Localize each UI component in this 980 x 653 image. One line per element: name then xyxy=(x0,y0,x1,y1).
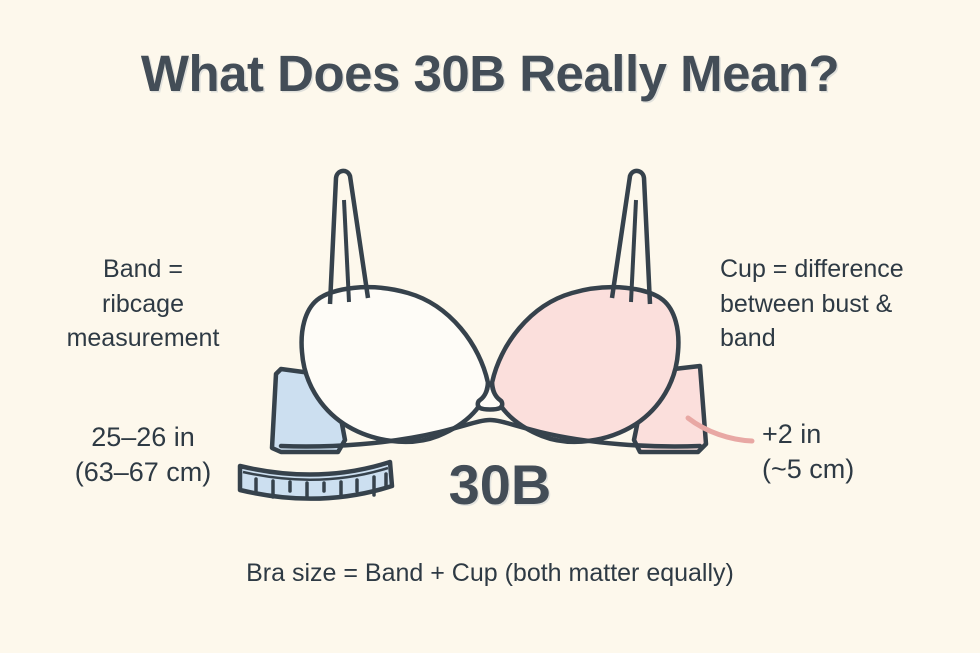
cup-right xyxy=(492,287,678,442)
bra-size-label: 30B xyxy=(415,452,585,517)
strap-left xyxy=(330,171,368,304)
cup-fill-right xyxy=(492,287,678,442)
band-definition-line2: ribcage xyxy=(18,287,268,322)
page-title: What Does 30B Really Mean? xyxy=(0,44,980,103)
cup-definition-line2: between bust & xyxy=(720,287,976,322)
cup-measurement: +2 in (~5 cm) xyxy=(762,417,977,487)
cup-measurement-cm: (~5 cm) xyxy=(762,452,977,487)
band-wing-left xyxy=(272,369,345,452)
measuring-tape-icon xyxy=(240,462,392,499)
cup-definition-label: Cup = difference between bust & band xyxy=(720,252,976,356)
band-wing-right xyxy=(634,366,706,452)
cup-measurement-inches: +2 in xyxy=(762,417,977,452)
strap-right xyxy=(612,171,650,304)
infographic-canvas: What Does 30B Really Mean? xyxy=(0,0,980,653)
cup-definition-line3: band xyxy=(720,321,976,356)
band-measurement: 25–26 in (63–67 cm) xyxy=(28,420,258,490)
leader-line-cup xyxy=(688,418,752,441)
band-measurement-inches: 25–26 in xyxy=(28,420,258,455)
band-definition-label: Band = ribcage measurement xyxy=(18,252,268,356)
band-definition-line1: Band = xyxy=(18,252,268,287)
band-bottom-edge xyxy=(281,420,700,446)
strap-left-seam xyxy=(344,200,349,302)
footer-note: Bra size = Band + Cup (both matter equal… xyxy=(0,559,980,588)
cup-left xyxy=(302,287,488,442)
center-gore xyxy=(478,383,503,410)
band-definition-line3: measurement xyxy=(18,321,268,356)
strap-right-seam xyxy=(631,200,636,302)
cup-definition-line1: Cup = difference xyxy=(720,252,976,287)
band-measurement-cm: (63–67 cm) xyxy=(28,455,258,490)
